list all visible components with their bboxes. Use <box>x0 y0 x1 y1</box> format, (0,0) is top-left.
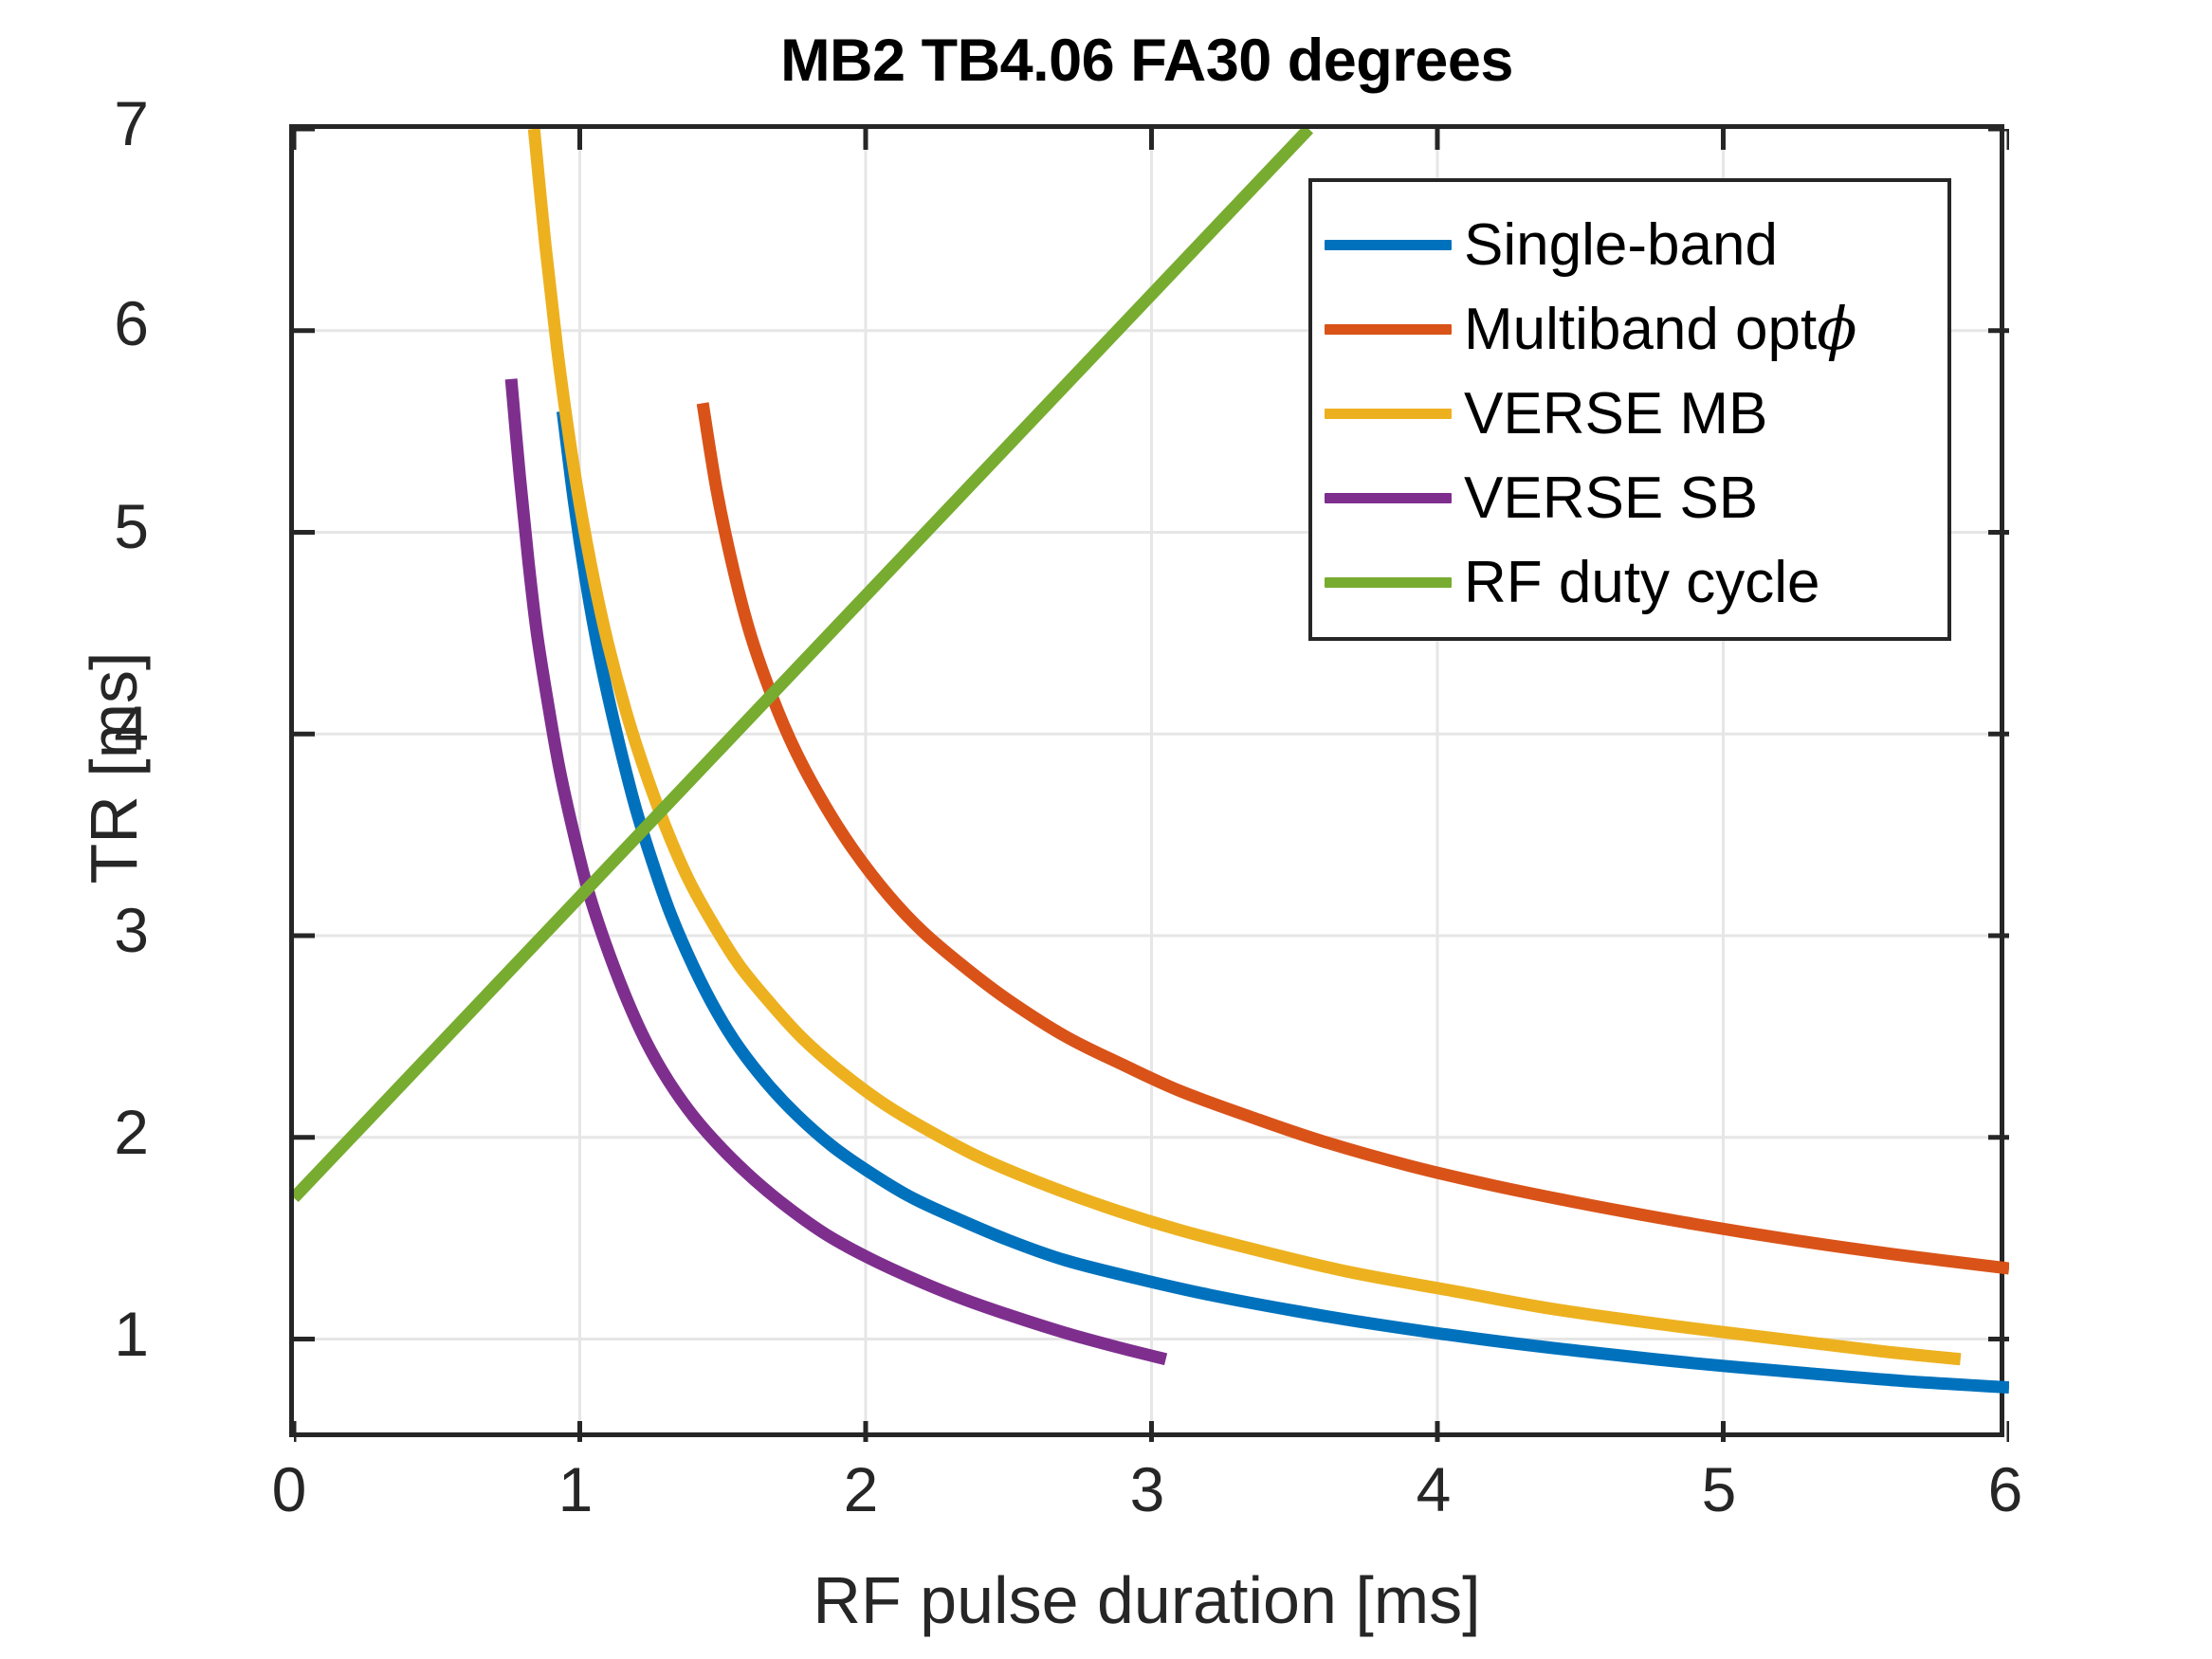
y-tick-label-5: 5 <box>114 495 149 557</box>
x-tick-label-1: 1 <box>519 1458 632 1521</box>
y-tick-label-1: 1 <box>114 1303 149 1365</box>
y-tick-label-7: 7 <box>114 92 149 155</box>
legend-swatch-multiband-opt-phi <box>1312 324 1464 335</box>
legend-label-verse-mb: VERSE MB <box>1464 385 1767 444</box>
y-axis-label: TR [ms] <box>76 569 152 967</box>
legend[interactable]: Single-band Multiband optϕ VERSE MB VERS… <box>1308 178 1951 641</box>
legend-label-multiband-opt-phi: Multiband optϕ <box>1464 300 1857 359</box>
legend-item-rf-duty-cycle[interactable]: RF duty cycle <box>1312 540 1947 625</box>
legend-item-verse-sb[interactable]: VERSE SB <box>1312 456 1947 540</box>
legend-label-single-band: Single-band <box>1464 216 1778 275</box>
phi-symbol: ϕ <box>1817 294 1856 363</box>
legend-swatch-verse-mb <box>1312 409 1464 419</box>
x-axis-label: RF pulse duration [ms] <box>289 1562 2004 1638</box>
x-tick-label-3: 3 <box>1090 1458 1204 1521</box>
legend-swatch-rf-duty-cycle <box>1312 577 1464 588</box>
legend-swatch-verse-sb <box>1312 493 1464 503</box>
legend-label-verse-sb: VERSE SB <box>1464 469 1758 528</box>
legend-label-rf-duty-cycle: RF duty cycle <box>1464 554 1820 612</box>
legend-item-single-band[interactable]: Single-band <box>1312 203 1947 287</box>
legend-label-multiband-text: Multiband opt <box>1464 297 1817 362</box>
legend-swatch-single-band <box>1312 240 1464 250</box>
legend-item-multiband-opt-phi[interactable]: Multiband optϕ <box>1312 287 1947 372</box>
page-title: MB2 TB4.06 FA30 degrees <box>289 27 2004 95</box>
figure-canvas: MB2 TB4.06 FA30 degrees 7 6 5 4 3 2 1 0 … <box>0 0 2212 1659</box>
x-tick-label-4: 4 <box>1377 1458 1490 1521</box>
x-tick-label-0: 0 <box>232 1458 346 1521</box>
y-tick-label-6: 6 <box>114 292 149 355</box>
x-tick-label-2: 2 <box>804 1458 918 1521</box>
legend-item-verse-mb[interactable]: VERSE MB <box>1312 372 1947 456</box>
y-tick-label-2: 2 <box>114 1101 149 1163</box>
x-tick-label-6: 6 <box>1948 1458 2062 1521</box>
x-tick-label-5: 5 <box>1662 1458 1776 1521</box>
